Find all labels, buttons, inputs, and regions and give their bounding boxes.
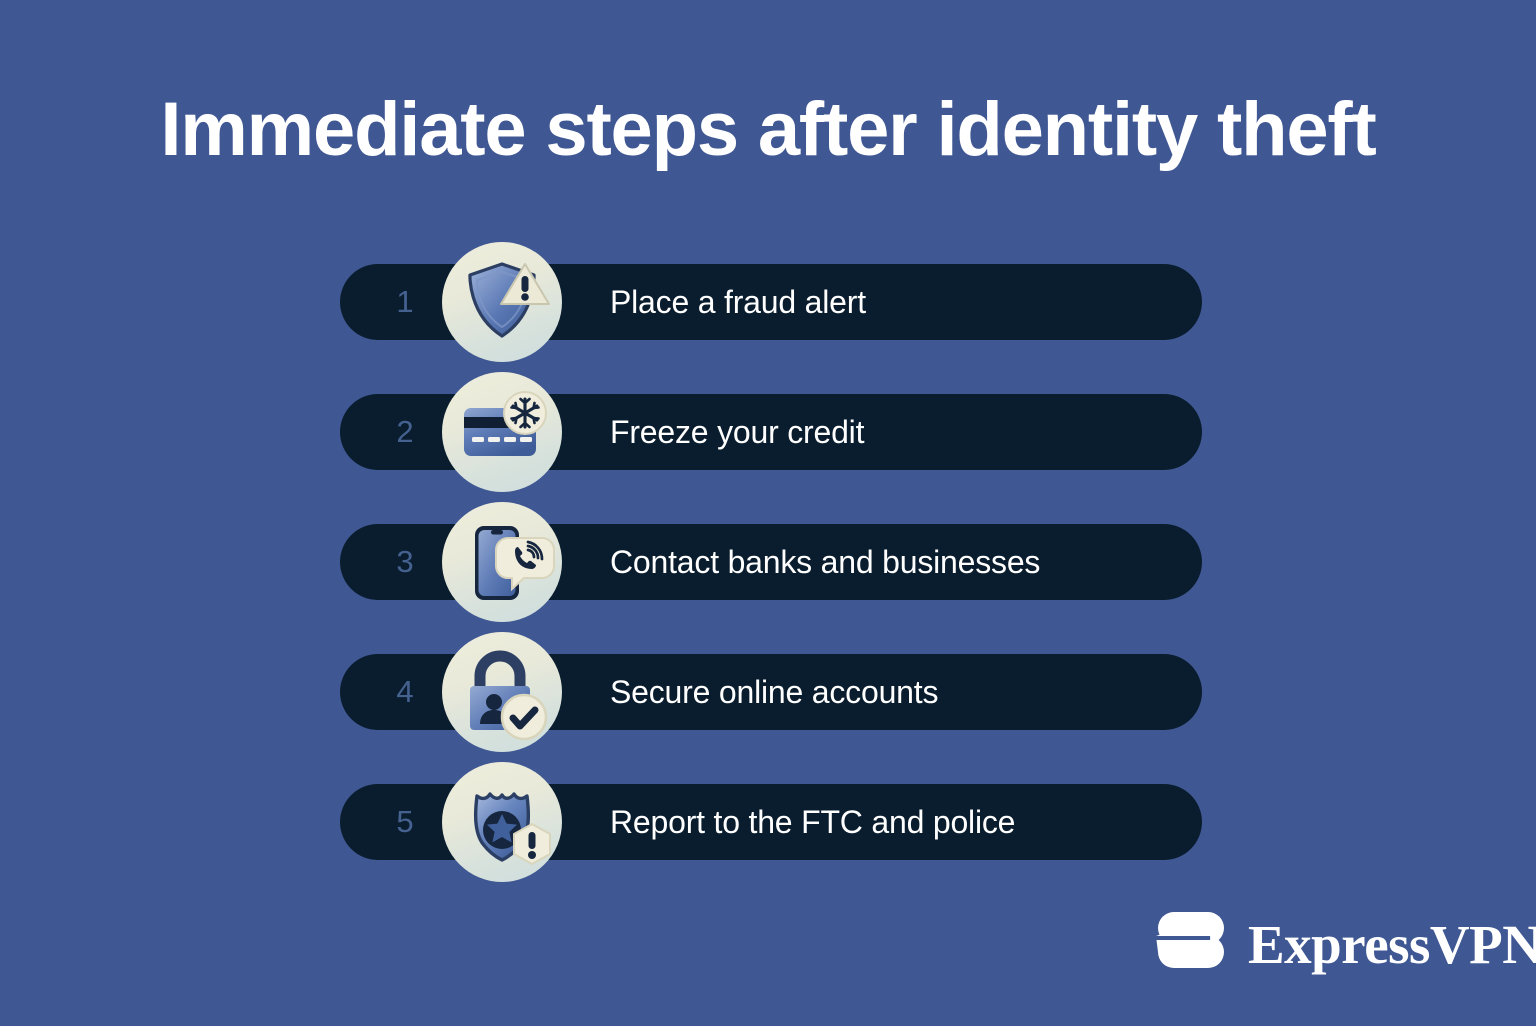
step-number: 3 <box>368 524 442 600</box>
padlock-user-check-icon <box>442 632 562 752</box>
list-item: 2 <box>340 394 1202 470</box>
brand-logo: ExpressVPN <box>1152 900 1492 990</box>
police-badge-alert-icon <box>442 762 562 882</box>
phone-call-bubble-icon <box>442 502 562 622</box>
shield-warning-icon <box>442 242 562 362</box>
brand-wordmark: ExpressVPN <box>1248 912 1536 978</box>
steps-list: 1 Place a frau <box>340 264 1204 914</box>
step-label: Place a fraud alert <box>610 264 866 340</box>
step-label: Freeze your credit <box>610 394 864 470</box>
step-number: 5 <box>368 784 442 860</box>
page-title: Immediate steps after identity theft <box>0 84 1536 176</box>
list-item: 4 S <box>340 654 1202 730</box>
step-label: Secure online accounts <box>610 654 938 730</box>
expressvpn-logo-icon <box>1152 906 1230 984</box>
infographic-canvas: Immediate steps after identity theft 1 <box>0 0 1536 1026</box>
step-number: 4 <box>368 654 442 730</box>
step-number: 2 <box>368 394 442 470</box>
step-label: Contact banks and businesses <box>610 524 1040 600</box>
credit-card-snowflake-icon <box>442 372 562 492</box>
step-number: 1 <box>368 264 442 340</box>
list-item: 1 Place a frau <box>340 264 1202 340</box>
list-item: 3 <box>340 524 1202 600</box>
step-label: Report to the FTC and police <box>610 784 1015 860</box>
list-item: 5 R <box>340 784 1202 860</box>
